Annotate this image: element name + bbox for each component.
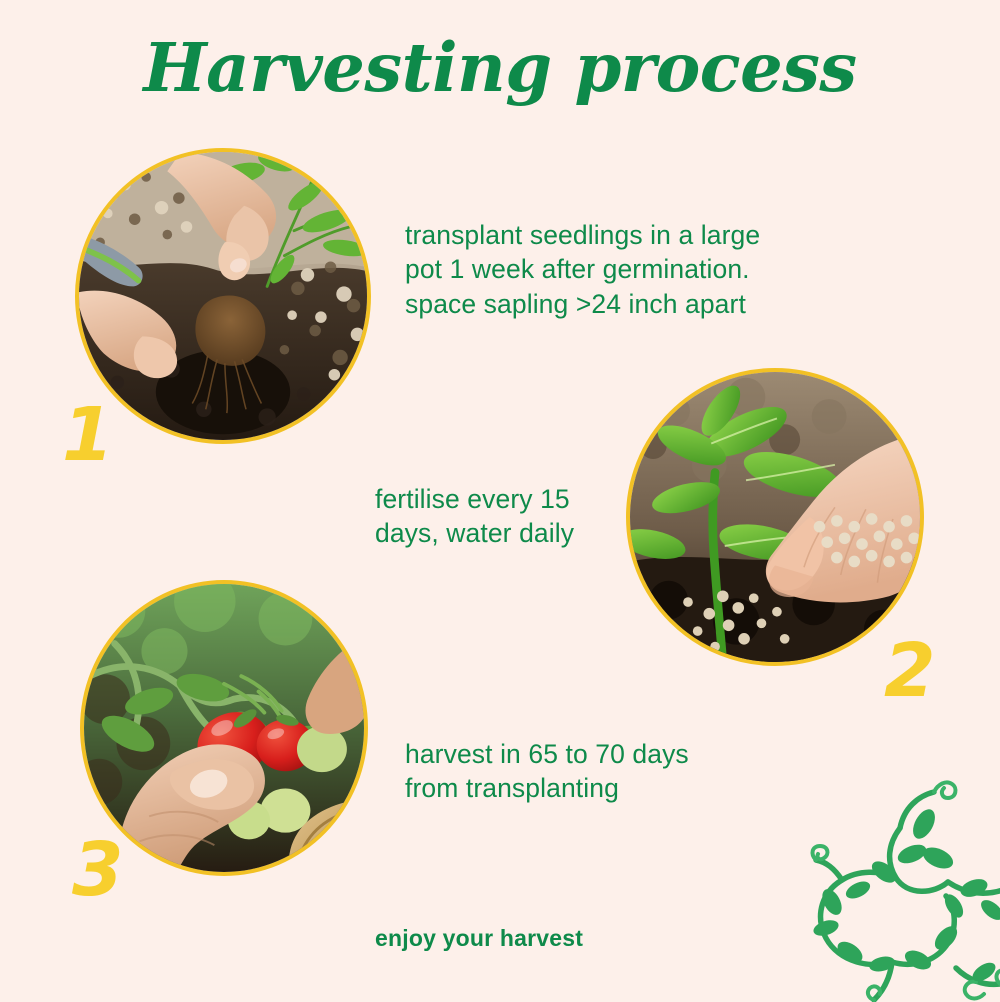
page-title: Harvesting process bbox=[0, 28, 1000, 107]
step-photo-2 bbox=[626, 368, 924, 666]
step-number-2: 2 bbox=[884, 634, 936, 708]
step-caption-1: transplant seedlings in a large pot 1 we… bbox=[405, 218, 825, 321]
step-caption-2: fertilise every 15 days, water daily bbox=[375, 482, 635, 551]
infographic-canvas: Harvesting process bbox=[0, 0, 1000, 1000]
step-number-3: 3 bbox=[72, 833, 124, 907]
step-photo-1 bbox=[75, 148, 371, 444]
vine-decoration bbox=[788, 762, 1000, 1002]
step-number-1: 1 bbox=[62, 398, 114, 472]
harvesting-tomatoes-illustration bbox=[84, 584, 364, 872]
fertilising-seedling-illustration bbox=[630, 372, 920, 662]
vine-illustration bbox=[788, 762, 1000, 1002]
transplanting-seedling-illustration bbox=[79, 152, 367, 440]
step-caption-3: harvest in 65 to 70 days from transplant… bbox=[405, 737, 755, 806]
footer-text: enjoy your harvest bbox=[375, 925, 583, 952]
